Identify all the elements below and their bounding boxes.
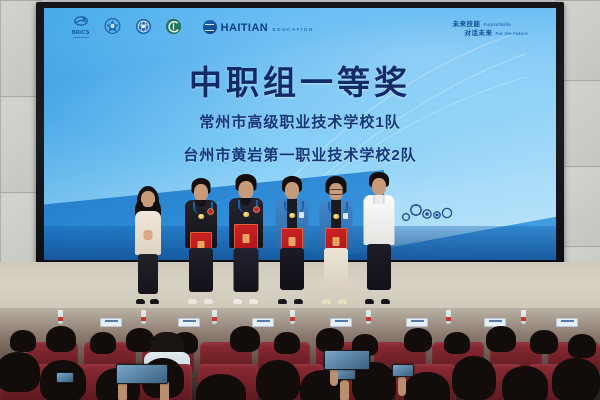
phone-recording bbox=[116, 364, 168, 384]
audience-head bbox=[230, 326, 260, 352]
audience-head bbox=[46, 326, 76, 352]
stage-group bbox=[0, 0, 600, 318]
photo-scene: BRICS bbox=[0, 0, 600, 400]
audience-head bbox=[486, 326, 516, 352]
audience-head bbox=[90, 332, 116, 354]
audience-head bbox=[530, 330, 558, 354]
water-bottle bbox=[521, 310, 526, 324]
awardee-1 bbox=[180, 178, 222, 304]
presenter-female bbox=[129, 186, 167, 304]
audience-head bbox=[316, 328, 344, 352]
awardee-2 bbox=[224, 174, 268, 304]
awardee-3 bbox=[270, 176, 314, 304]
audience-head bbox=[502, 366, 548, 400]
phone-recording bbox=[392, 364, 414, 377]
water-bottle bbox=[212, 310, 217, 324]
audience-head bbox=[274, 332, 300, 354]
phone-recording bbox=[324, 350, 370, 370]
name-placard bbox=[252, 318, 274, 327]
name-placard bbox=[556, 318, 578, 327]
official-male bbox=[358, 172, 400, 304]
name-placard bbox=[330, 318, 352, 327]
name-placard bbox=[178, 318, 200, 327]
audience-head bbox=[0, 352, 40, 392]
audience-head bbox=[452, 356, 496, 400]
glasses-icon bbox=[329, 189, 344, 195]
water-bottle bbox=[446, 310, 451, 324]
audience-head bbox=[568, 334, 596, 358]
water-bottle bbox=[58, 310, 63, 324]
audience-head bbox=[256, 360, 300, 400]
name-placard bbox=[100, 318, 122, 327]
audience-head bbox=[404, 328, 432, 352]
water-bottle bbox=[141, 310, 146, 324]
phone-recording bbox=[56, 372, 74, 383]
audience-head bbox=[10, 330, 36, 352]
audience-head bbox=[444, 332, 470, 354]
name-placard bbox=[406, 318, 428, 327]
water-bottle bbox=[366, 310, 371, 324]
water-bottle bbox=[290, 310, 295, 324]
audience-head bbox=[552, 358, 600, 400]
audience-area bbox=[0, 308, 600, 400]
raised-arm bbox=[340, 380, 349, 400]
awardee-4 bbox=[314, 176, 358, 304]
raised-arm bbox=[398, 376, 406, 396]
